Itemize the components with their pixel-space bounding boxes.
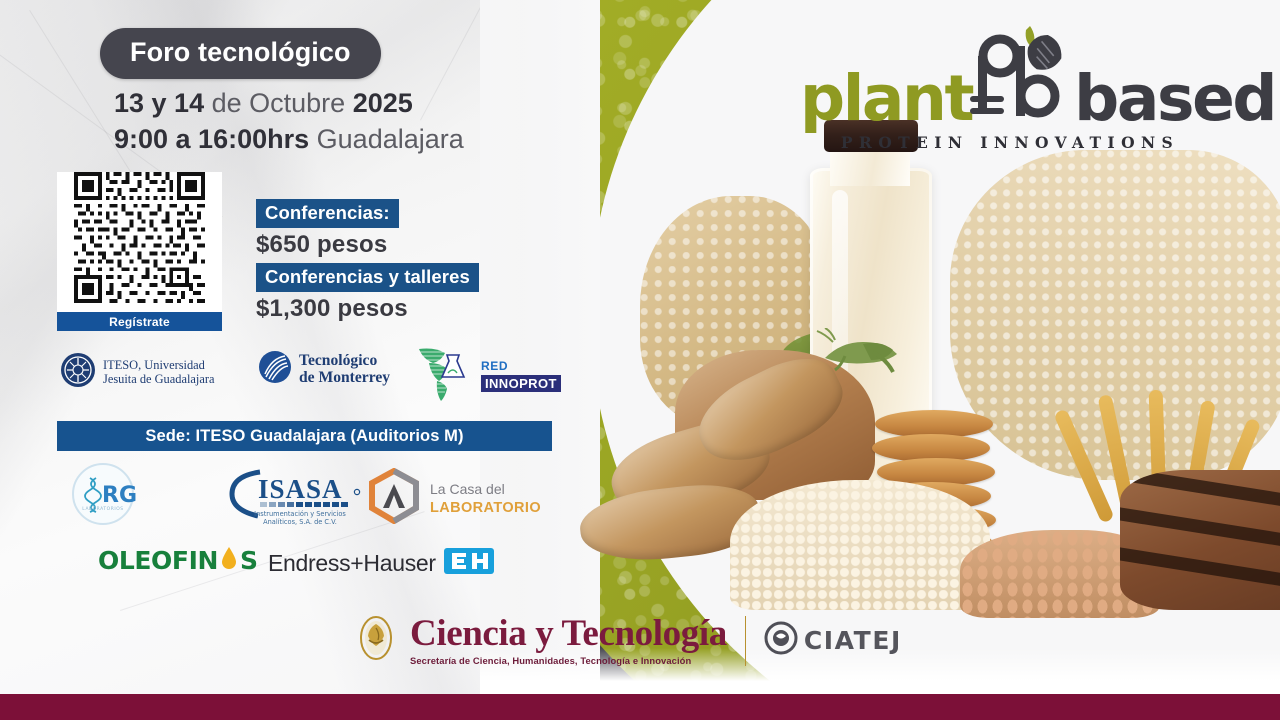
sponsor-casa-laboratorio[interactable]: La Casa del LABORATORIO (365, 468, 541, 529)
ciatej-eye-icon (764, 621, 798, 660)
sponsor-oleofinos[interactable]: OLEOFIN S (98, 545, 258, 576)
oleofinos-wordmark-tail: S (240, 546, 258, 575)
casa-laboratorio-wordmark: La Casa del LABORATORIO (430, 481, 541, 517)
svg-text:Analíticos, S.A. de C.V.: Analíticos, S.A. de C.V. (263, 518, 337, 526)
organizer-iteso[interactable]: ITESO, UniversidadJesuita de Guadalajara (60, 352, 214, 393)
organizer-red-innoprot[interactable]: RED INNOPROT (415, 341, 561, 408)
register-button[interactable]: Regístrate (57, 312, 222, 331)
registration-qr-code[interactable] (57, 172, 222, 327)
svg-text:ISASA: ISASA (258, 474, 343, 504)
iteso-seal-icon (60, 352, 96, 393)
logo-word-plant: plant (800, 73, 972, 126)
sponsor-isasa[interactable]: ISASA Instrumentación y Servicios Analít… (218, 464, 378, 533)
casa-laboratorio-hexagon-icon (365, 468, 423, 529)
event-month: de Octubre (204, 88, 353, 118)
logo-word-based: based (1074, 73, 1275, 126)
ciatej-wordmark: CIATEJ (804, 626, 902, 655)
organizer-tec-monterrey[interactable]: Tecnológicode Monterrey (258, 350, 390, 389)
venue-bar: Sede: ITESO Guadalajara (Auditorios M) (57, 421, 552, 451)
qr-matrix (57, 172, 222, 303)
sponsor-endress-hauser[interactable]: Endress+Hauser (268, 548, 494, 579)
logo-tagline: PROTEIN INNOVATIONS (800, 133, 1220, 152)
red-innoprot-map-flask-icon (415, 341, 479, 408)
organizer-logos: ITESO, UniversidadJesuita de Guadalajara… (60, 344, 560, 406)
oleofinos-drop-icon (219, 545, 239, 576)
event-hours: 9:00 a 16:00hrs (114, 124, 309, 154)
oleofinos-wordmark: OLEOFIN (98, 546, 218, 575)
footer-title: Ciencia y Tecnología (410, 615, 727, 652)
price-value: $650 pesos (256, 231, 399, 259)
plant-based-logo: plant ba (800, 48, 1220, 160)
price-label: Conferencias: (256, 199, 399, 228)
endress-hauser-eh-icon (444, 548, 494, 579)
event-type-badge: Foro tecnológico (100, 28, 381, 79)
pb-monogram-icon (970, 22, 1078, 126)
event-year: 2025 (353, 88, 413, 118)
red-innoprot-wordmark: RED INNOPROT (481, 357, 561, 393)
grilled-patty (1120, 470, 1280, 610)
price-conferences: Conferencias: $650 pesos (256, 199, 399, 259)
footer-logos: Ciencia y Tecnología Secretaría de Cienc… (352, 614, 902, 667)
tec-monterrey-icon (258, 350, 292, 389)
footer-subtitle: Secretaría de Ciencia, Humanidades, Tecn… (410, 655, 727, 666)
mexican-government-seal-icon (352, 614, 400, 667)
iteso-name: ITESO, UniversidadJesuita de Guadalajara (103, 359, 214, 386)
rg-circle-dna-icon: RG LABORATORIOS (70, 462, 136, 531)
event-datetime: 13 y 14 de Octubre 2025 9:00 a 16:00hrs … (114, 86, 464, 157)
footer-band: Ciencia y Tecnología Secretaría de Cienc… (0, 600, 1280, 694)
svg-text:RG: RG (102, 483, 136, 508)
event-days: 13 y 14 (114, 88, 204, 118)
price-label: Conferencias y talleres (256, 263, 479, 292)
rolled-oats (730, 480, 990, 610)
grasshopper-icon (815, 328, 911, 374)
price-conferences-workshops: Conferencias y talleres $1,300 pesos (256, 263, 479, 323)
ciencia-tecnologia-block: Ciencia y Tecnología Secretaría de Cienc… (410, 615, 727, 666)
sponsor-logos-row-1: RG LABORATORIOS ISASA (60, 462, 560, 530)
bottom-accent-bar (0, 694, 1280, 720)
tec-name: Tecnológicode Monterrey (299, 353, 390, 387)
isasa-arc-icon: ISASA Instrumentación y Servicios Analít… (218, 464, 378, 533)
sponsor-logos-row-2: OLEOFIN S Endress+Hauser (60, 545, 560, 585)
ciatej-logo[interactable]: CIATEJ (764, 621, 902, 660)
price-value: $1,300 pesos (256, 295, 479, 323)
footer-divider (745, 616, 746, 666)
event-city: Guadalajara (317, 124, 464, 154)
svg-text:LABORATORIOS: LABORATORIOS (82, 506, 123, 512)
endress-hauser-wordmark: Endress+Hauser (268, 550, 436, 577)
svg-text:Instrumentación y Servicios: Instrumentación y Servicios (254, 510, 346, 518)
poster-canvas: plant ba (0, 0, 1280, 720)
sponsor-rg[interactable]: RG LABORATORIOS (70, 462, 136, 531)
